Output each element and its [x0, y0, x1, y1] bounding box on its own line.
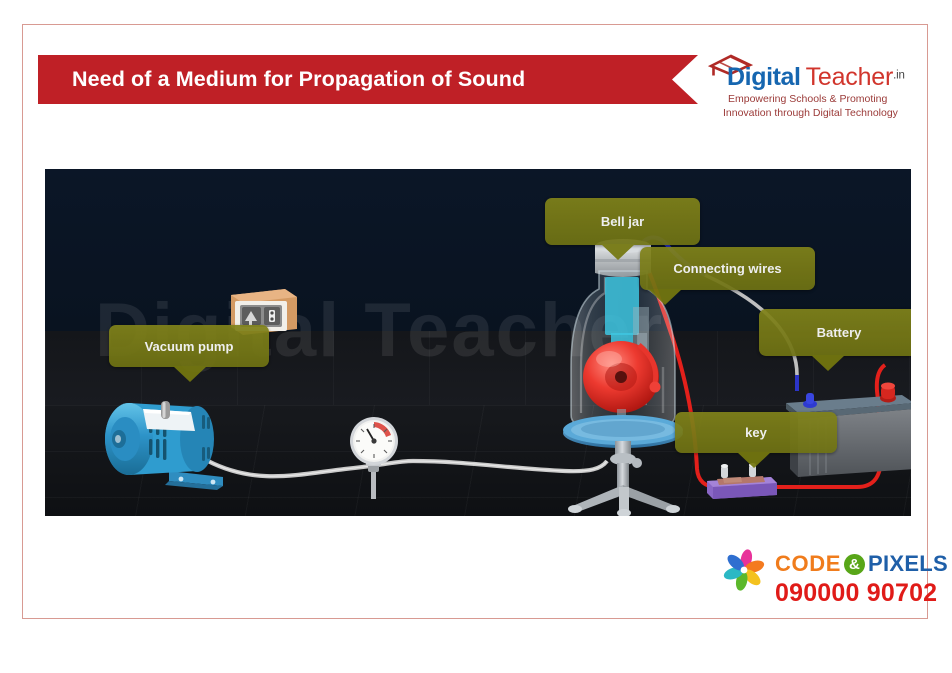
- footer-brand-logo: CODE&PIXELS 090000 90702: [713, 545, 929, 615]
- callout-label: Bell jar: [601, 214, 644, 229]
- callout-label: Connecting wires: [673, 261, 781, 276]
- callout-bell-jar[interactable]: Bell jar: [545, 198, 700, 245]
- callout-pointer: [648, 289, 682, 305]
- callout-connecting-wires[interactable]: Connecting wires: [640, 247, 815, 290]
- callout-label: Battery: [817, 325, 862, 340]
- brand-word-secondary: Teacher: [806, 63, 894, 91]
- brand-wordmark: DigitalTeacher.in: [727, 65, 905, 90]
- slide-canvas: Need of a Medium for Propagation of Soun…: [0, 0, 952, 673]
- footer-ampersand: &: [844, 554, 865, 575]
- vacuum-tube: [208, 461, 607, 476]
- footer-wordmark: CODE&PIXELS: [775, 553, 948, 575]
- callout-pointer: [811, 355, 845, 371]
- brand-tagline-line2: Innovation through Digital Technology: [723, 107, 898, 119]
- experiment-illustration: Digital Teacher: [45, 169, 911, 516]
- footer-phone-number: 090000 90702: [775, 579, 937, 608]
- slide-frame: Need of a Medium for Propagation of Soun…: [22, 24, 928, 619]
- callout-key[interactable]: key: [675, 412, 837, 453]
- brand-word-primary: Digital: [727, 63, 801, 91]
- footer-word-pixels: PIXELS: [868, 551, 948, 576]
- pinwheel-icon: [717, 547, 771, 598]
- callout-label: key: [745, 425, 767, 440]
- title-banner: Need of a Medium for Propagation of Soun…: [38, 55, 698, 104]
- callout-label: Vacuum pump: [145, 339, 234, 354]
- callout-battery[interactable]: Battery: [759, 309, 911, 356]
- callout-pointer: [737, 452, 771, 468]
- electric-motor-icon: [95, 389, 245, 500]
- brand-domain-suffix: .in: [893, 70, 905, 82]
- footer-word-code: CODE: [775, 551, 841, 576]
- pressure-gauge-icon: [347, 415, 403, 510]
- page-title: Need of a Medium for Propagation of Soun…: [72, 55, 525, 104]
- callout-pointer: [173, 366, 207, 382]
- brand-tagline-line1: Empowering Schools & Promoting: [728, 93, 887, 105]
- callout-pointer: [601, 244, 635, 260]
- brand-logo: DigitalTeacher.in Empowering Schools & P…: [701, 53, 917, 119]
- slide-header: Need of a Medium for Propagation of Soun…: [23, 25, 929, 119]
- callout-vacuum-pump[interactable]: Vacuum pump: [109, 325, 269, 367]
